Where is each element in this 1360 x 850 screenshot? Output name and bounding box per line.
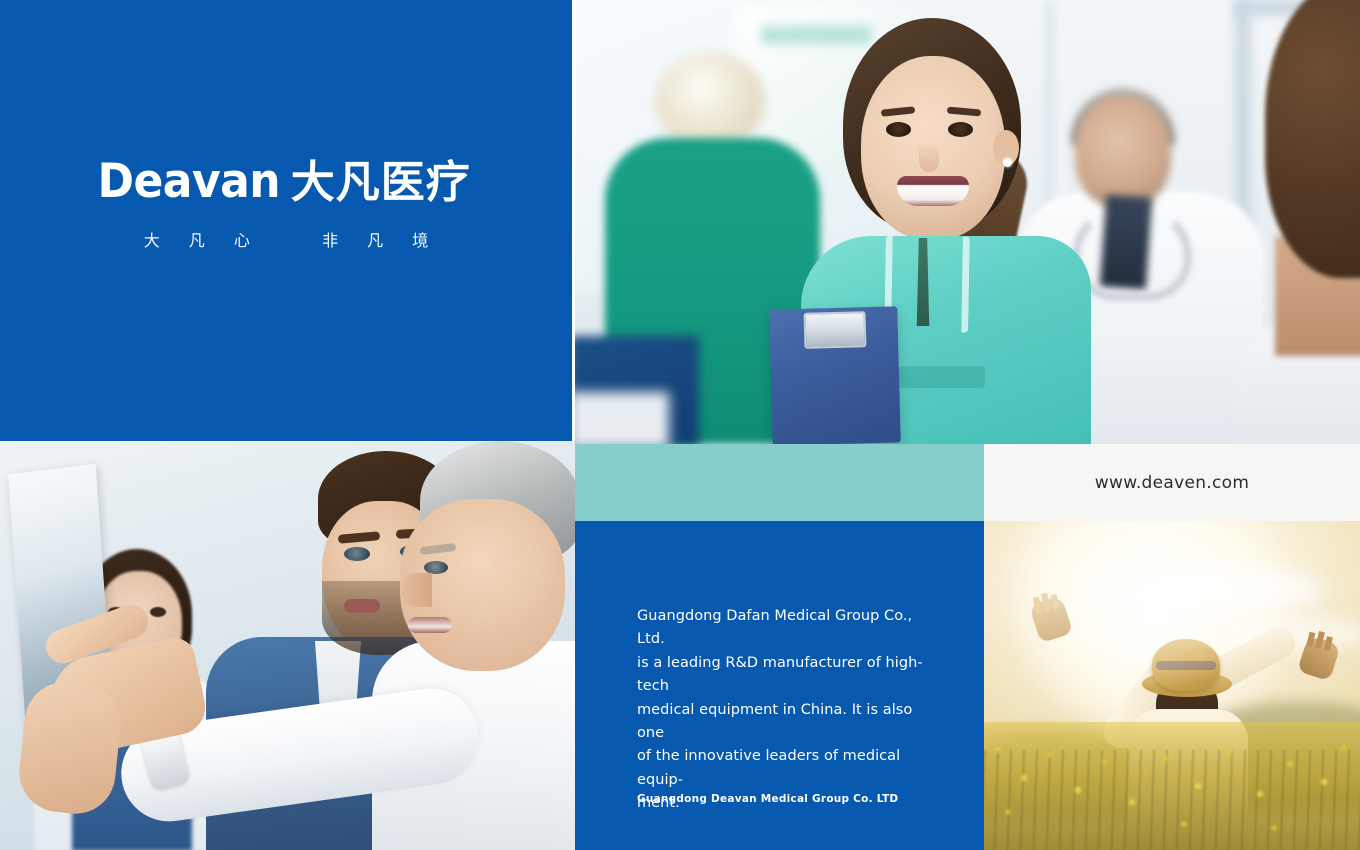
clinic-photo	[575, 0, 1360, 444]
nurse-pocket	[899, 366, 985, 388]
clipboard-clip	[804, 311, 867, 349]
straw-hat-band	[1156, 661, 1216, 670]
tagline-part-1: 大 凡 心	[144, 231, 262, 250]
brand-wordmark: Deavan	[98, 158, 281, 205]
about-line-2: is a leading R&D manufacturer of high-te…	[637, 652, 937, 699]
about-line-1: Guangdong Dafan Medical Group Co., Ltd.	[637, 605, 937, 652]
senior-doctor-mouth	[408, 617, 452, 633]
brand-layout-board: Deavan 大凡医疗 大 凡 心 非 凡 境	[0, 0, 1360, 850]
nurse-eye-left	[886, 122, 911, 137]
about-line-4: of the innovative leaders of medical equ…	[637, 745, 937, 792]
background-doctor-head	[1075, 96, 1171, 208]
young-doctor-mouth	[344, 599, 380, 613]
sunlit-field-photo	[984, 521, 1360, 850]
brand-panel: Deavan 大凡医疗 大 凡 心 非 凡 境	[0, 0, 572, 441]
about-line-3: medical equipment in China. It is also o…	[637, 699, 937, 746]
brand-tagline: 大 凡 心 非 凡 境	[0, 227, 572, 251]
desk-paper	[575, 392, 669, 444]
about-paragraph: Guangdong Dafan Medical Group Co., Ltd. …	[637, 605, 937, 816]
young-doctor-eye-left	[344, 547, 370, 561]
company-legal-name: Guangdong Deavan Medical Group Co. LTD	[637, 793, 898, 805]
xray-review-photo	[0, 441, 575, 850]
female-doctor-eye-right	[150, 607, 166, 617]
senior-doctor-nose	[402, 573, 432, 607]
about-text-panel: Guangdong Dafan Medical Group Co., Ltd. …	[575, 521, 984, 850]
nurse-smile	[897, 176, 969, 206]
logo-lockup: Deavan 大凡医疗 大 凡 心 非 凡 境	[0, 158, 572, 251]
background-nurse-head	[655, 52, 765, 150]
logo-row: Deavan 大凡医疗	[0, 158, 572, 205]
website-url[interactable]: www.deaven.com	[1095, 473, 1249, 493]
teal-accent-band	[575, 444, 984, 521]
yellow-flowers	[984, 732, 1360, 850]
website-url-strip: www.deaven.com	[984, 444, 1360, 521]
brand-chinese-name: 大凡医疗	[291, 161, 471, 205]
cloud-upper	[1134, 567, 1324, 613]
tagline-part-2: 非 凡 境	[322, 231, 440, 250]
poster-text-blur	[761, 26, 871, 44]
nurse-nose	[919, 142, 939, 172]
nurse-eye-right	[948, 122, 973, 137]
nurse-earring	[1003, 158, 1012, 167]
